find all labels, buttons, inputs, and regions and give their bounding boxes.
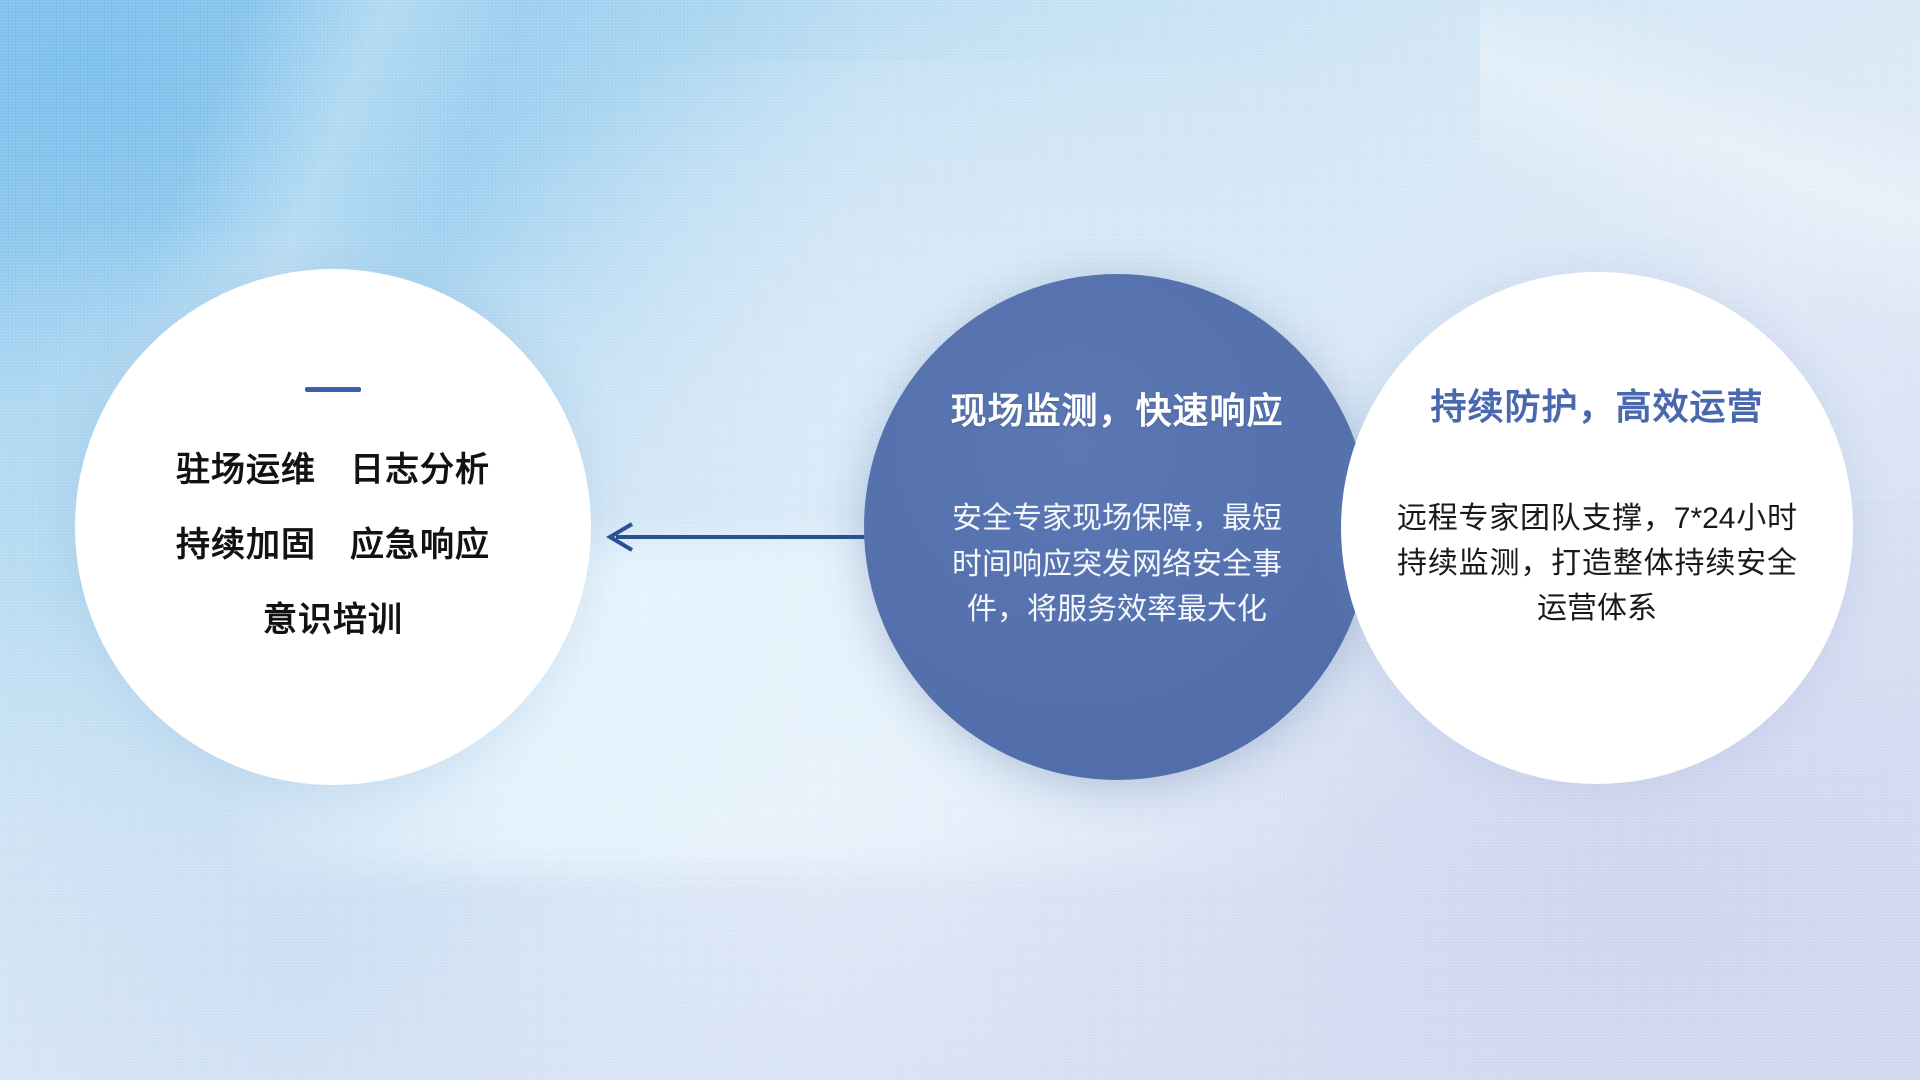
keyword-item: 持续加固 [176, 517, 316, 566]
leftward-arrow [598, 514, 876, 560]
keyword-item: 意识培训 [263, 592, 403, 641]
keyword-row: 持续加固 应急响应 [176, 517, 490, 566]
continuous-protection-body: 远程专家团队支撑，7*24小时持续监测，打造整体持续安全运营体系 [1397, 496, 1797, 631]
keyword-item: 应急响应 [350, 517, 490, 566]
capability-keyword-list: 驻场运维 日志分析 持续加固 应急响应 意识培训 [176, 442, 490, 641]
keyword-row: 意识培训 [263, 592, 403, 641]
onsite-monitoring-body: 安全专家现场保障，最短时间响应突发网络安全事件，将服务效率最大化 [952, 496, 1282, 633]
continuous-protection-title: 持续防护，高效运营 [1430, 378, 1763, 430]
driver-capabilities-circle: 驻场运维 日志分析 持续加固 应急响应 意识培训 [75, 269, 591, 785]
keyword-item: 驻场运维 [176, 442, 316, 491]
keyword-row: 驻场运维 日志分析 [176, 442, 490, 491]
horizontal-dash-icon [305, 387, 361, 392]
arrow-left-icon [598, 514, 876, 560]
diagram-canvas: 驻场运维 日志分析 持续加固 应急响应 意识培训 现场监测，快速响应 安全专家现… [0, 0, 1920, 1080]
continuous-protection-circle: 持续防护，高效运营 远程专家团队支撑，7*24小时持续监测，打造整体持续安全运营… [1341, 272, 1853, 784]
onsite-monitoring-circle: 现场监测，快速响应 安全专家现场保障，最短时间响应突发网络安全事件，将服务效率最… [864, 274, 1370, 780]
keyword-item: 日志分析 [350, 442, 490, 491]
onsite-monitoring-title: 现场监测，快速响应 [950, 382, 1283, 434]
